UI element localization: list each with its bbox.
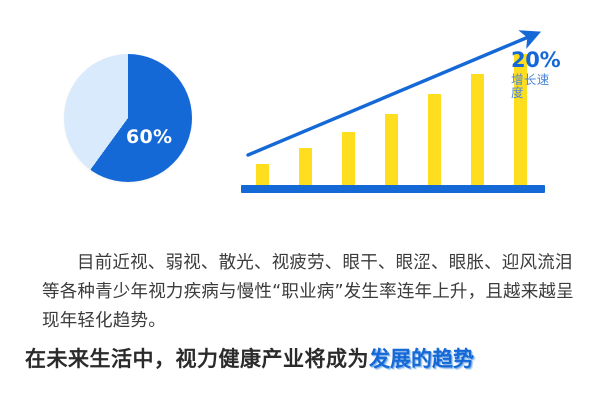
poster-canvas: 60% 20% 增长速度 目前 [0, 0, 600, 400]
bar [299, 148, 312, 186]
headline-highlight: 发展的趋势 [369, 347, 474, 371]
pie-chart: 60% [64, 54, 192, 182]
bar-group [256, 54, 527, 186]
bar [256, 164, 269, 186]
infographic-band: 60% 20% 增长速度 [0, 0, 600, 215]
bar [428, 94, 441, 186]
bar [385, 114, 398, 186]
growth-percent: 20% [511, 50, 560, 71]
bar [342, 132, 355, 186]
chart-baseline [241, 185, 545, 193]
bar-chart-graphic [230, 14, 550, 204]
headline-prefix: 在未来生活中，视力健康产业将成为 [25, 347, 369, 371]
headline: 在未来生活中，视力健康产业将成为发展的趋势 [25, 343, 585, 373]
bar [471, 74, 484, 186]
body-paragraph: 目前近视、弱视、散光、视疲劳、眼干、眼涩、眼胀、迎风流泪等各种青少年视力疾病与慢… [42, 249, 574, 336]
pie-chart-value-label: 60% [126, 126, 182, 148]
bar-chart: 20% 增长速度 [230, 14, 550, 204]
pie-chart-graphic [64, 54, 192, 182]
growth-callout: 20% 增长速度 [511, 50, 560, 99]
growth-caption: 增长速度 [511, 74, 560, 99]
